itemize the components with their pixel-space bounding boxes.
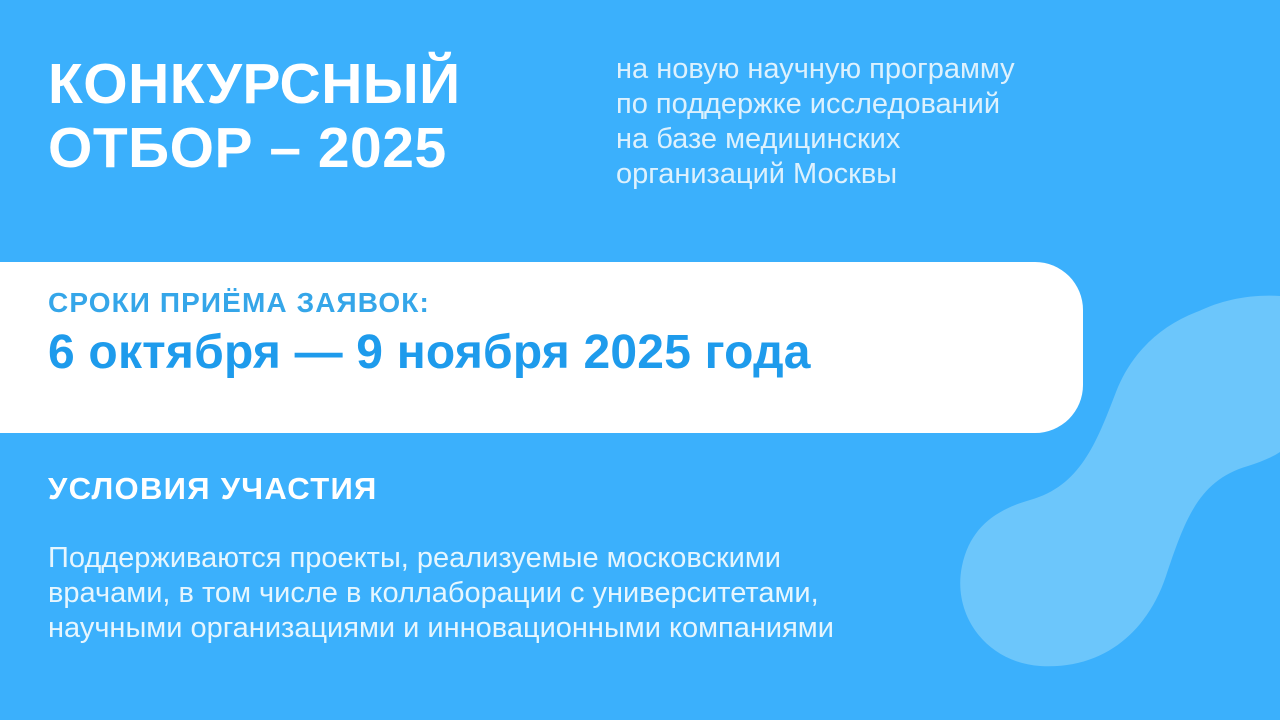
conditions-body-text: Поддерживаются проекты, реализуемые моск… xyxy=(48,541,1058,646)
application-dates-range: 6 октября — 9 ноября 2025 года xyxy=(48,324,1083,382)
header-subtitle: на новую научную программу по поддержке … xyxy=(616,52,1216,192)
participation-conditions-section: УСЛОВИЯ УЧАСТИЯ Поддерживаются проекты, … xyxy=(48,470,1058,646)
conditions-heading: УСЛОВИЯ УЧАСТИЯ xyxy=(48,470,1058,508)
page-title: КОНКУРСНЫЙ ОТБОР – 2025 xyxy=(48,52,608,180)
promo-poster: КОНКУРСНЫЙ ОТБОР – 2025 на новую научную… xyxy=(0,0,1280,720)
application-dates-label: СРОКИ ПРИЁМА ЗАЯВОК: xyxy=(48,286,1083,320)
poster-header: КОНКУРСНЫЙ ОТБОР – 2025 на новую научную… xyxy=(0,0,1280,262)
application-dates-card: СРОКИ ПРИЁМА ЗАЯВОК: 6 октября — 9 ноябр… xyxy=(0,262,1083,433)
